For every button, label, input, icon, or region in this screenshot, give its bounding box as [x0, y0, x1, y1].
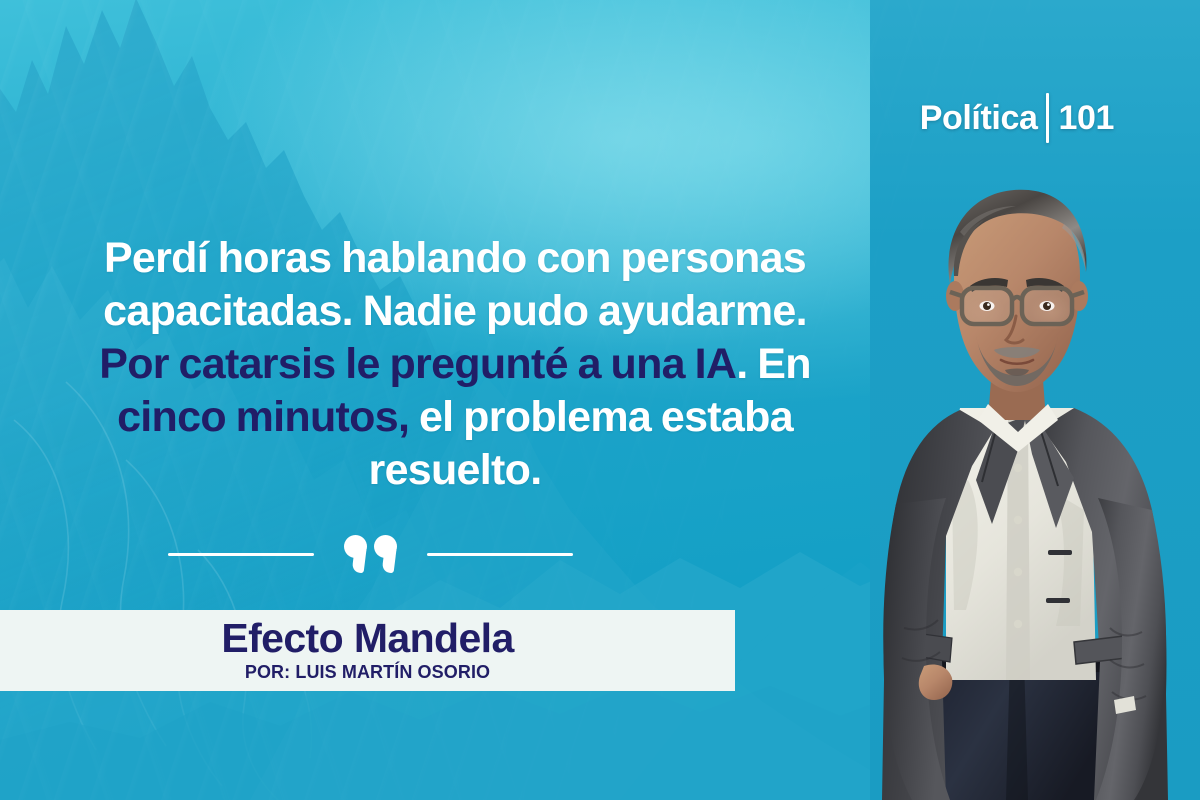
divider-rule-right	[427, 553, 573, 556]
author-portrait	[842, 180, 1192, 800]
quote-text: Perdí horas hablando con personas capaci…	[60, 232, 850, 497]
quote-line-4-highlight: cinco minutos,	[117, 393, 409, 441]
quote-divider	[60, 535, 680, 573]
double-quote-icon	[344, 535, 397, 573]
quote-line-3-highlight: Por catarsis le pregunté a una IA	[99, 340, 736, 388]
brand-logo[interactable]: Política 101	[920, 93, 1114, 143]
quote-line-2: capacitadas. Nadie pudo ayudarme.	[103, 287, 807, 335]
quote-line-4-rest: el problema estaba	[409, 393, 793, 441]
divider-rule-left	[168, 553, 314, 556]
article-title: Efecto Mandela	[221, 618, 513, 659]
vertical-bar-icon	[1046, 93, 1049, 143]
author-byline: POR: LUIS MARTÍN OSORIO	[245, 663, 490, 681]
quote-line-3-rest: . En	[736, 340, 811, 388]
quote-line-1: Perdí horas hablando con personas	[104, 234, 806, 282]
title-banner: Efecto Mandela POR: LUIS MARTÍN OSORIO	[0, 610, 735, 691]
brand-name: Política	[920, 101, 1038, 135]
quote-card-poster: Política 101 Perdí horas hablando con pe…	[0, 0, 1200, 800]
quote-line-5: resuelto.	[369, 446, 542, 494]
brand-number: 101	[1058, 101, 1114, 135]
